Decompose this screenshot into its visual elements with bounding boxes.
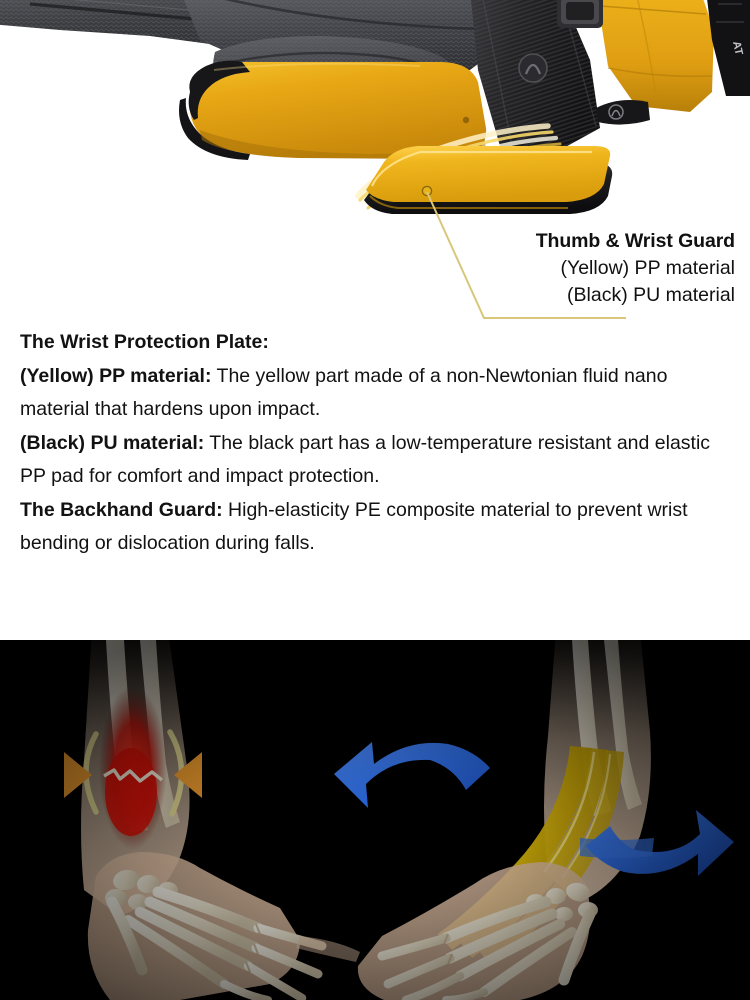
paragraph-label-2: (Black) PU material:: [20, 432, 204, 454]
paragraph-yellow-pp-material: (Yellow) PP material: The yellow part ma…: [20, 360, 738, 427]
description-text-block: The Wrist Protection Plate: (Yellow) PP …: [20, 326, 738, 561]
glove-product-photo: AT: [0, 0, 750, 230]
glove-yellow-palm: [179, 61, 486, 160]
glove-cuff: [596, 0, 714, 125]
callout-line-black: (Black) PU material: [315, 282, 735, 309]
brand-medallion-icon: [519, 54, 547, 82]
callout-anchor-dot: [422, 186, 431, 195]
paragraph-label-3: The Backhand Guard:: [20, 499, 223, 521]
paragraph-black-pu-material: (Black) PU material: The black part has …: [20, 427, 738, 494]
wrist-xray-illustrations: [0, 640, 750, 1000]
paragraph-wrist-protection-plate: The Wrist Protection Plate:: [20, 326, 738, 360]
product-photo-section: AT: [0, 0, 750, 230]
callout-label-block: Thumb & Wrist Guard (Yellow) PP material…: [315, 228, 735, 309]
paragraph-label-0: The Wrist Protection Plate:: [20, 331, 269, 353]
protective-technology-section: SUPERDEF Protective Technology - Rigid W…: [0, 640, 750, 1000]
glove-buckle: [557, 0, 603, 28]
paragraph-label-1: (Yellow) PP material:: [20, 365, 211, 387]
paragraph-backhand-guard: The Backhand Guard: High-elasticity PE c…: [20, 494, 738, 561]
callout-title: Thumb & Wrist Guard: [315, 228, 735, 255]
callout-line-yellow: (Yellow) PP material: [315, 255, 735, 282]
product-detail-page: AT: [0, 0, 750, 1000]
